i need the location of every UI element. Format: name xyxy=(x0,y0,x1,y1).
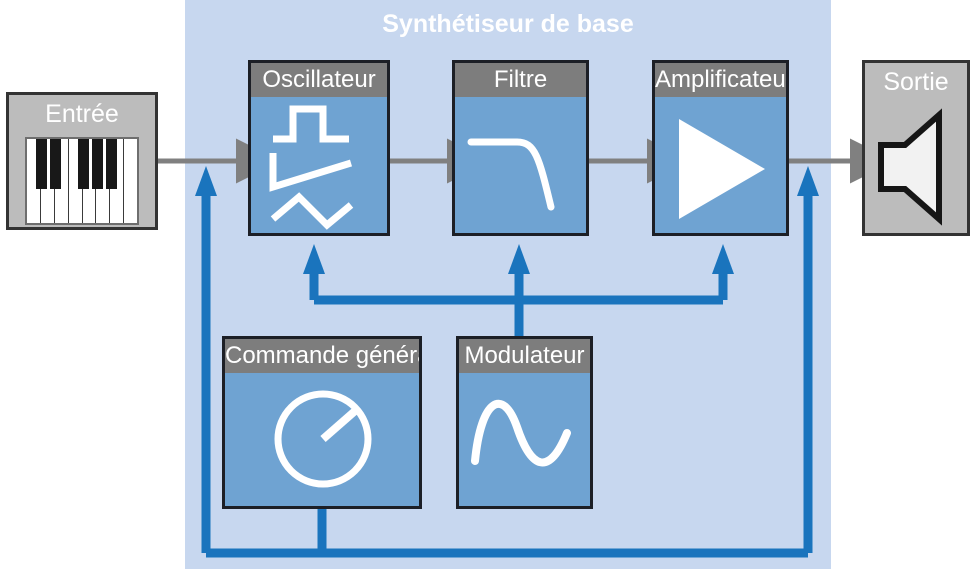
module-input[interactable]: Entrée xyxy=(6,92,158,230)
module-output-body xyxy=(865,101,967,233)
piano-keyboard-icon xyxy=(25,137,139,225)
waveforms-icon xyxy=(251,97,387,233)
module-global-control[interactable]: Commande générale xyxy=(222,336,422,509)
black-key xyxy=(92,139,103,189)
arrowhead-oscillator xyxy=(303,244,325,274)
sine-curve xyxy=(475,404,567,463)
module-modulator-label: Modulateur xyxy=(459,339,590,373)
module-amplifier-label: Amplificateur xyxy=(655,63,786,97)
module-global-control-label: Commande générale xyxy=(225,339,419,373)
module-input-label: Entrée xyxy=(9,95,155,133)
modulation-arrowheads xyxy=(303,244,734,274)
lowpass-curve-icon xyxy=(455,97,586,233)
module-filter-label: Filtre xyxy=(455,63,586,97)
black-key xyxy=(50,139,61,189)
arrowhead-filter xyxy=(508,244,530,274)
synth-block-diagram: Synthétiseur de base xyxy=(0,0,976,569)
module-amplifier-body xyxy=(655,97,786,233)
square-wave-icon xyxy=(273,109,349,139)
black-key xyxy=(78,139,89,189)
arrowhead-right xyxy=(797,166,819,196)
module-output[interactable]: Sortie xyxy=(862,60,970,236)
speaker-icon xyxy=(865,101,967,233)
black-key xyxy=(106,139,117,189)
amplifier-triangle-icon xyxy=(655,97,786,233)
module-oscillator-body xyxy=(251,97,387,233)
triangle-wave-icon xyxy=(273,197,351,225)
knob-pointer xyxy=(323,411,355,439)
module-filter[interactable]: Filtre xyxy=(452,60,589,236)
module-oscillator[interactable]: Oscillateur xyxy=(248,60,390,236)
sine-wave-icon xyxy=(459,373,590,506)
module-global-control-body xyxy=(225,373,419,506)
module-output-label: Sortie xyxy=(865,63,967,101)
arrowhead-amplifier xyxy=(712,244,734,274)
knob-icon xyxy=(225,373,419,506)
module-modulator[interactable]: Modulateur xyxy=(456,336,593,509)
module-oscillator-label: Oscillateur xyxy=(251,63,387,97)
module-filter-body xyxy=(455,97,586,233)
arrowhead-left xyxy=(195,166,217,196)
saw-wave-icon xyxy=(273,153,351,187)
module-amplifier[interactable]: Amplificateur xyxy=(652,60,789,236)
modulation-bus xyxy=(314,268,723,336)
module-modulator-body xyxy=(459,373,590,506)
amp-triangle xyxy=(679,119,765,219)
speaker-body xyxy=(881,115,939,219)
black-key xyxy=(36,139,47,189)
white-key xyxy=(124,139,137,223)
filter-curve xyxy=(471,142,551,207)
